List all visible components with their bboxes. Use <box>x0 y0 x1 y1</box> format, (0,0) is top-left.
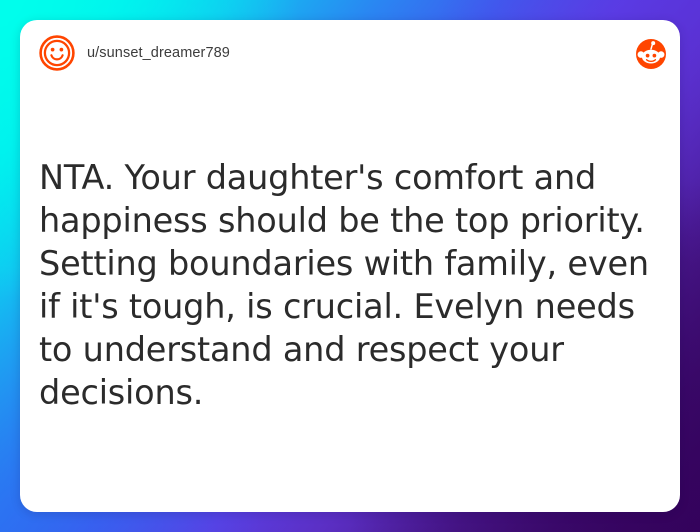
reddit-snoo-icon[interactable] <box>635 38 667 70</box>
reddit-comment-card: u/sunset_dreamer789 NTA. Your daughter's <box>20 20 680 512</box>
smiley-face-icon[interactable] <box>38 34 76 72</box>
screenshot-root: u/sunset_dreamer789 NTA. Your daughter's <box>0 0 700 532</box>
username-label: u/sunset_dreamer789 <box>87 45 230 61</box>
comment-body-text: NTA. Your daughter's comfort and happine… <box>39 156 654 414</box>
card-header: u/sunset_dreamer789 <box>20 20 680 102</box>
